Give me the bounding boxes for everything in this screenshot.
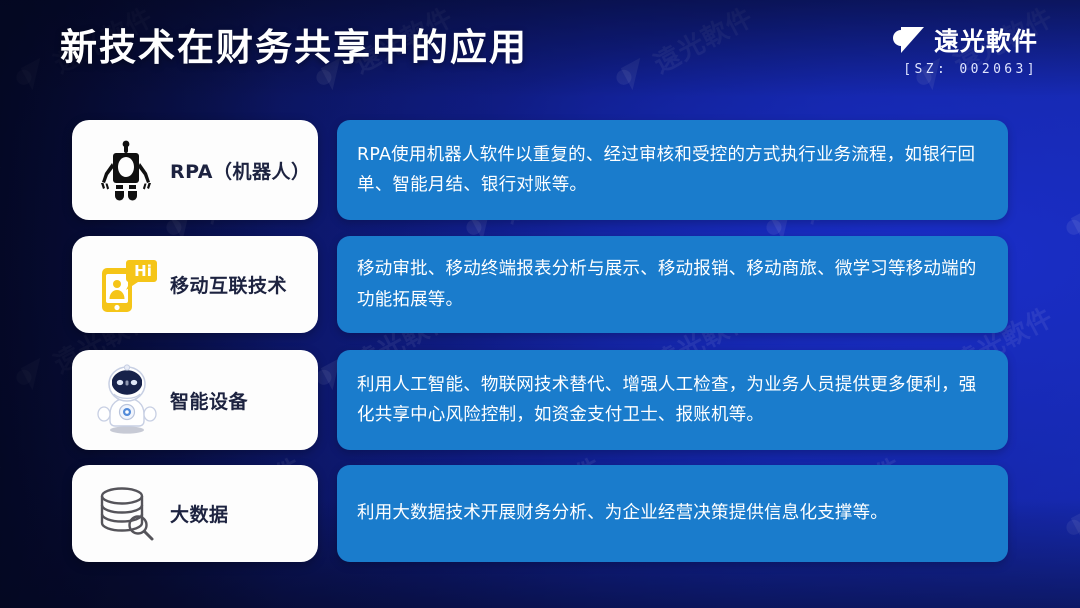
description-text: 利用大数据技术开展财务分析、为企业经营决策提供信息化支撑等。	[357, 498, 888, 528]
category-card-big-data[interactable]: 大数据	[72, 465, 318, 562]
content-row: Hi 移动互联技术 移动审批、移动终端报表分析与展示、移动报销、移动商旅、微学习…	[72, 236, 1008, 333]
smart-robot-icon	[94, 365, 160, 435]
description-panel: 利用大数据技术开展财务分析、为企业经营决策提供信息化支撑等。	[337, 465, 1008, 562]
content-rows: RPA（机器人） RPA使用机器人软件以重复的、经过审核和受控的方式执行业务流程…	[0, 0, 1080, 608]
content-row: 大数据 利用大数据技术开展财务分析、为企业经营决策提供信息化支撑等。	[72, 465, 1008, 562]
category-label: 大数据	[170, 500, 229, 527]
description-panel: 移动审批、移动终端报表分析与展示、移动报销、移动商旅、微学习等移动端的功能拓展等…	[337, 236, 1008, 333]
description-panel: 利用人工智能、物联网技术替代、增强人工检查，为业务人员提供更多便利，强化共享中心…	[337, 350, 1008, 450]
category-card-mobile[interactable]: Hi 移动互联技术	[72, 236, 318, 333]
description-text: RPA使用机器人软件以重复的、经过审核和受控的方式执行业务流程，如银行回单、智能…	[357, 140, 988, 200]
category-card-rpa[interactable]: RPA（机器人）	[72, 120, 318, 220]
category-card-smart-device[interactable]: 智能设备	[72, 350, 318, 450]
svg-text:Hi: Hi	[134, 262, 152, 280]
database-search-icon	[94, 479, 160, 549]
category-label: RPA（机器人）	[170, 157, 308, 184]
robot-black-icon	[94, 135, 160, 205]
category-label: 移动互联技术	[170, 271, 287, 298]
mobile-phone-hi-icon: Hi	[94, 250, 160, 320]
description-text: 利用人工智能、物联网技术替代、增强人工检查，为业务人员提供更多便利，强化共享中心…	[357, 370, 988, 430]
content-row: 智能设备 利用人工智能、物联网技术替代、增强人工检查，为业务人员提供更多便利，强…	[72, 350, 1008, 450]
slide-background: 遠光軟件遠光軟件遠光軟件遠光軟件遠光軟件遠光軟件遠光軟件遠光軟件遠光軟件遠光軟件…	[0, 0, 1080, 608]
category-label: 智能设备	[170, 387, 248, 414]
content-row: RPA（机器人） RPA使用机器人软件以重复的、经过审核和受控的方式执行业务流程…	[72, 120, 1008, 220]
description-text: 移动审批、移动终端报表分析与展示、移动报销、移动商旅、微学习等移动端的功能拓展等…	[357, 254, 988, 314]
description-panel: RPA使用机器人软件以重复的、经过审核和受控的方式执行业务流程，如银行回单、智能…	[337, 120, 1008, 220]
